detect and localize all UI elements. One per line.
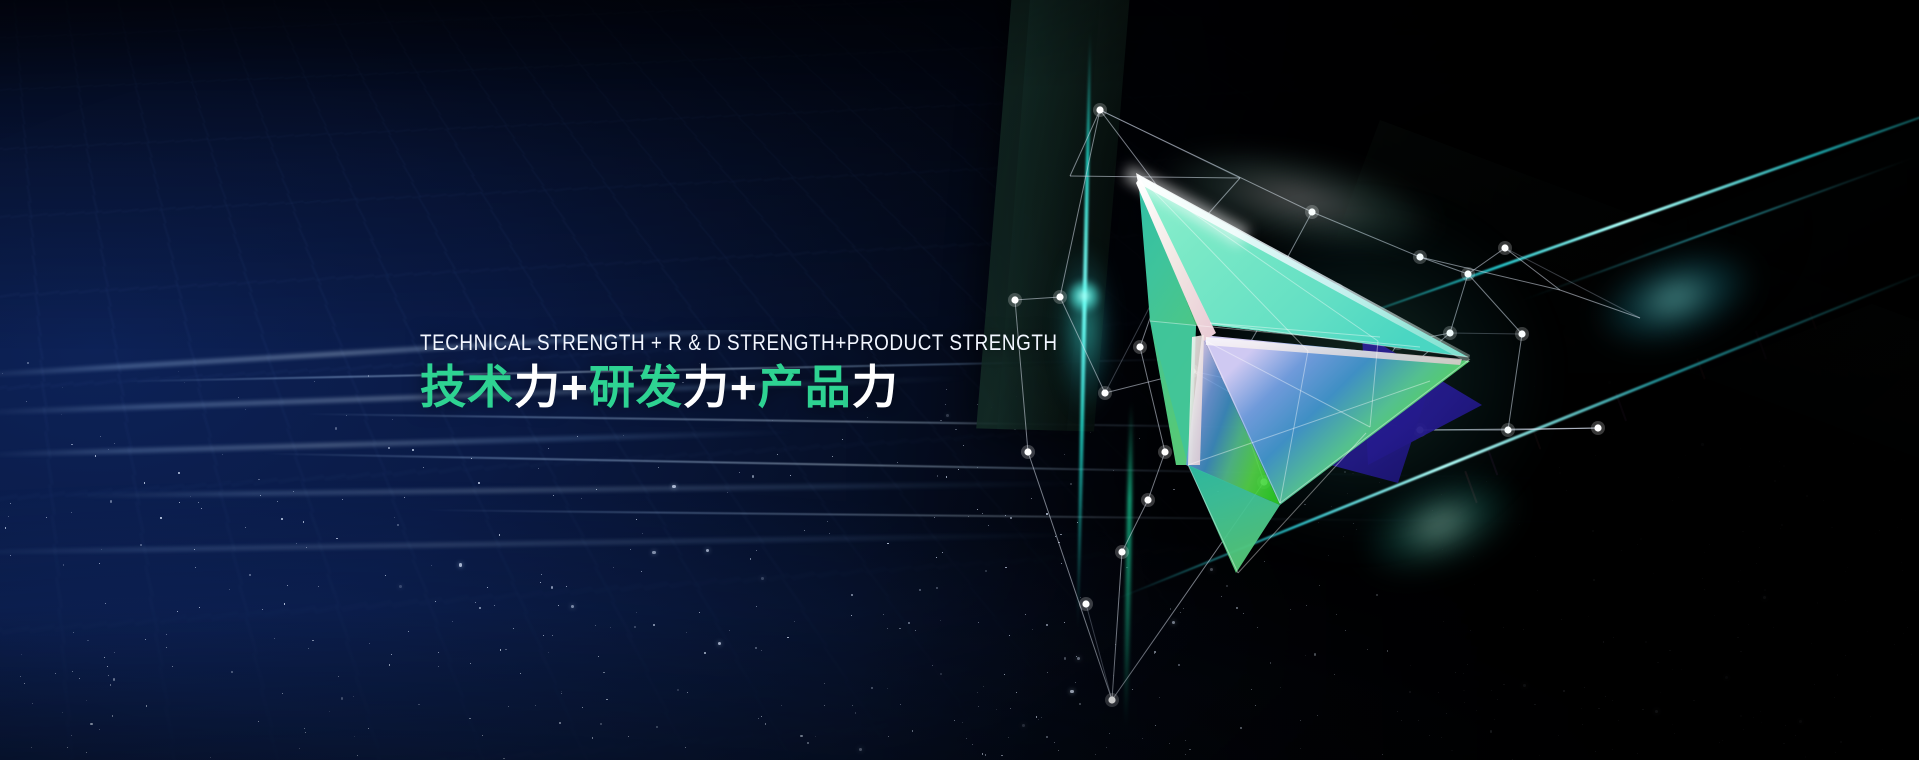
headline-cn-segment-3: 研发 (589, 361, 683, 413)
headline-cn-segment-1: 力 (514, 361, 561, 413)
headline-english: TECHNICAL STRENGTH + R & D STRENGTH+PROD… (420, 332, 953, 354)
network-edge (1060, 110, 1100, 297)
network-edge (1086, 604, 1112, 700)
headline-cn-segment-7: 力 (852, 361, 899, 413)
headline-cn-segment-4: 力 (683, 361, 730, 413)
network-node (1594, 424, 1601, 431)
network-node (1101, 389, 1108, 396)
network-node (1108, 696, 1115, 703)
network-edge (1560, 290, 1640, 318)
network-edge (1060, 297, 1105, 393)
headline-cn-segment-6: 产品 (758, 361, 852, 413)
network-node (1024, 448, 1031, 455)
headline-cn-segment-2: + (561, 361, 589, 413)
network-edge (1070, 110, 1100, 176)
network-node (1056, 293, 1063, 300)
3d-play-arrow-logo (1130, 165, 1560, 595)
logo-geometry (1130, 165, 1560, 595)
network-node (1082, 600, 1089, 607)
headline-cn-segment-5: + (730, 361, 758, 413)
hero-banner: TECHNICAL STRENGTH + R & D STRENGTH+PROD… (0, 0, 1919, 760)
network-edge (1112, 552, 1122, 700)
network-node (1011, 296, 1018, 303)
headline-block: TECHNICAL STRENGTH + R & D STRENGTH+PROD… (420, 332, 1040, 414)
network-edge (1028, 452, 1112, 700)
headline-chinese: 技术力+研发力+产品力 (420, 362, 1040, 414)
network-node (1096, 106, 1103, 113)
headline-cn-segment-0: 技术 (420, 361, 514, 413)
network-node (1118, 548, 1125, 555)
